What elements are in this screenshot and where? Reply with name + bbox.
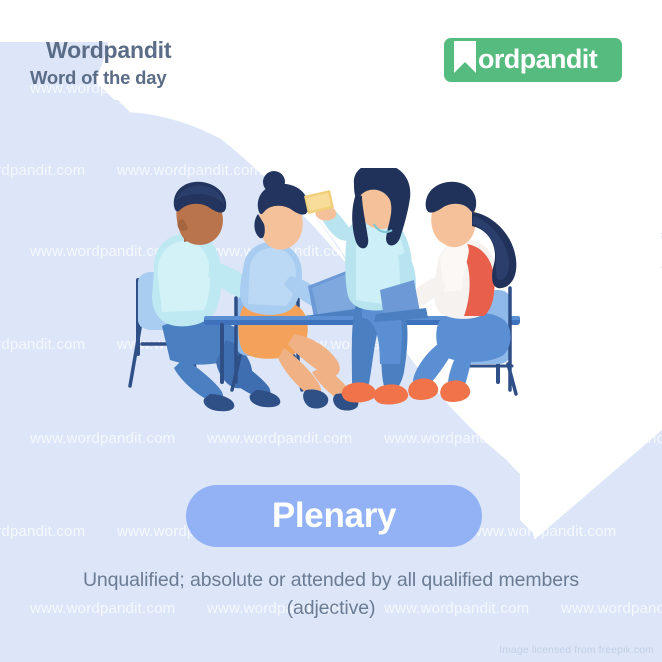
part-of-speech: (adjective) — [0, 594, 662, 622]
watermark-text: www.wordpandit.com — [0, 162, 85, 179]
word-definition-block: Unqualified; absolute or attended by all… — [0, 566, 662, 623]
watermark-text: www.wordpandit.com — [561, 243, 662, 260]
definition-text: Unqualified; absolute or attended by all… — [0, 566, 662, 594]
logo-wordmark: ordpandit — [478, 46, 597, 75]
word-badge[interactable]: Plenary — [186, 485, 482, 547]
watermark-text: www.wordpandit.com — [471, 523, 616, 540]
meeting-illustration — [118, 168, 558, 418]
brand-title: Wordpandit — [46, 38, 171, 63]
watermark-text: www.wordpandit.com — [0, 523, 85, 540]
wordpandit-logo[interactable]: ordpandit — [444, 38, 622, 82]
header: Wordpandit Word of the day ordpandit — [0, 0, 662, 110]
watermark-text: www.wordpandit.com — [207, 430, 352, 447]
bookmark-ribbon-icon — [452, 40, 478, 80]
watermark-text: www.wordpandit.com — [561, 430, 662, 447]
word-term: Plenary — [272, 496, 396, 536]
word-of-the-day-card: www.wordpandit.com www.wordpandit.com ww… — [0, 0, 662, 662]
watermark-text: www.wordpandit.com — [30, 430, 175, 447]
brand-block: Wordpandit Word of the day — [46, 38, 171, 89]
image-credit: Image licensed from freepik.com — [499, 644, 654, 656]
watermark-text: www.wordpandit.com — [0, 336, 85, 353]
watermark-text: www.wordpandit.com — [384, 430, 529, 447]
brand-subtitle: Word of the day — [30, 66, 171, 89]
